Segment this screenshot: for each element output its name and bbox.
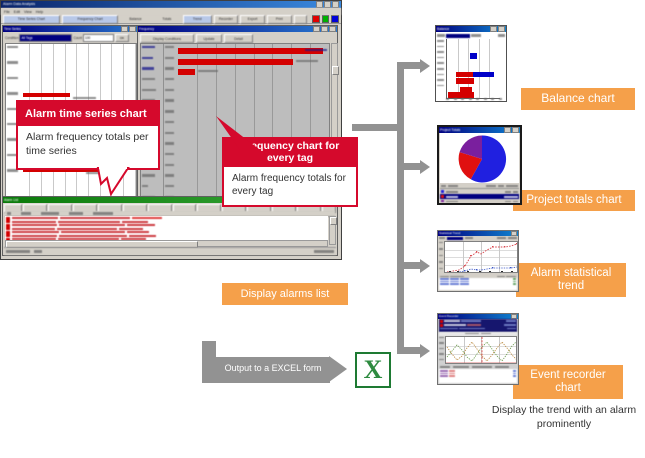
event-recorder-window[interactable]: Event Recorder: [437, 313, 519, 385]
frequency-toolbar[interactable]: Display Conditions Update Detail: [140, 34, 253, 43]
recorder-lines-svg: [446, 337, 517, 364]
toolbar-button-export[interactable]: Export: [240, 15, 265, 24]
column-header-tag[interactable]: [69, 212, 83, 214]
condition-dropdown[interactable]: All Tags: [19, 34, 72, 42]
pie-plot[interactable]: [440, 133, 519, 183]
connector-branch-balance: [397, 62, 421, 69]
condition-label: Condition: [5, 36, 18, 40]
arrow-trend: [420, 259, 430, 273]
trend-y-labels: [439, 242, 444, 269]
balance-bar-blue-1: [470, 53, 477, 59]
toolbar-button-frequency[interactable]: Frequency Chart: [62, 15, 119, 24]
trend-data-table[interactable]: [439, 275, 517, 290]
trend-plot[interactable]: [444, 241, 518, 273]
list-item[interactable]: [440, 370, 516, 372]
frequency-bar-label-3: [198, 70, 218, 72]
recorder-subtoolbar[interactable]: [439, 332, 517, 336]
balance-window-controls[interactable]: [490, 26, 505, 33]
excel-arrow-label: Output to a EXCEL form: [214, 363, 332, 373]
balance-plot[interactable]: [446, 39, 500, 99]
callout-frequency-body: Alarm frequency totals for every tag: [224, 167, 356, 203]
frequency-window-controls[interactable]: [313, 26, 336, 33]
toolbar-button-totals[interactable]: Totals: [153, 16, 181, 23]
balance-titlebar[interactable]: Balance: [436, 26, 506, 32]
callout-time-series-tail: [98, 166, 132, 196]
status-connection: [314, 250, 334, 252]
close-icon[interactable]: [332, 1, 339, 8]
toolbar-button-trend[interactable]: Trend: [183, 15, 211, 24]
pie-chart-svg: [457, 134, 507, 184]
balance-bar-blue-2: [473, 72, 494, 77]
table-row[interactable]: [439, 283, 517, 286]
frequency-bar-1: [178, 48, 323, 54]
frequency-button-conditions[interactable]: Display Conditions: [140, 34, 194, 43]
maximize-icon[interactable]: [321, 26, 328, 33]
bar-row2: [23, 93, 70, 97]
column-header-time[interactable]: [41, 212, 59, 214]
balance-toolbar[interactable]: [437, 33, 505, 38]
menu-item-edit[interactable]: Edit: [14, 10, 20, 14]
frequency-titlebar[interactable]: Frequency: [138, 26, 337, 32]
balance-chart-window[interactable]: Balance: [435, 25, 507, 102]
connector-branch-recorder: [397, 347, 421, 354]
maximize-icon[interactable]: [129, 26, 136, 33]
time-series-filter-row[interactable]: Condition All Tags Count 100 OK: [5, 34, 145, 41]
frequency-button-detail[interactable]: Detail: [224, 34, 253, 43]
column-header-message[interactable]: [93, 212, 113, 214]
minimize-icon[interactable]: [121, 26, 128, 33]
footer-note: Display the trend with an alarm prominen…: [488, 404, 640, 431]
count-label: Count: [73, 36, 82, 40]
project-totals-window[interactable]: Project Totals: [437, 125, 522, 205]
frequency-title: Frequency: [139, 26, 313, 32]
status-records-count: [34, 250, 42, 252]
frequency-bar-label-2: [296, 60, 318, 62]
tag-balance-chart: Balance chart: [521, 88, 635, 110]
status-records-label: [6, 250, 30, 252]
alarm-list-statusbar: [4, 247, 336, 255]
legend-swatch-green[interactable]: [322, 15, 330, 23]
close-icon[interactable]: [329, 26, 336, 33]
connector-branch-pie: [397, 163, 421, 170]
arrow-pie: [420, 160, 430, 174]
toolbar-button-print[interactable]: Print: [267, 15, 292, 24]
menu-item-file[interactable]: File: [4, 10, 10, 14]
balance-y-labels: [437, 40, 446, 86]
ok-button[interactable]: OK: [115, 34, 129, 42]
callout-time-series: Alarm time series chart Alarm frequency …: [16, 100, 160, 170]
frequency-bar-2: [178, 59, 293, 65]
column-header-date[interactable]: [21, 212, 31, 214]
minimize-icon[interactable]: [490, 26, 497, 33]
balance-bar-red-2: [456, 78, 474, 84]
balance-bar-red-1: [456, 72, 474, 77]
arrow-recorder: [420, 344, 430, 358]
toolbar-button-more[interactable]: [294, 15, 307, 24]
alarm-list-hscrollbar[interactable]: [5, 240, 328, 247]
legend-swatch-red[interactable]: [312, 15, 320, 23]
time-series-titlebar[interactable]: Time Series: [3, 26, 145, 32]
legend-row-3[interactable]: [440, 199, 519, 202]
time-series-title: Time Series: [4, 26, 121, 32]
main-window-title: Alarm Data Analysis: [3, 1, 316, 8]
list-item[interactable]: [440, 373, 516, 375]
excel-icon[interactable]: X: [355, 352, 391, 388]
list-item[interactable]: [440, 375, 516, 377]
minimize-icon[interactable]: [316, 1, 323, 8]
tag-alarm-statistical-trend: Alarm statistical trend: [516, 263, 626, 297]
recorder-plot[interactable]: [445, 336, 517, 364]
excel-icon-glyph: X: [364, 357, 383, 383]
connector-branch-trend: [397, 262, 421, 269]
callout-time-series-heading: Alarm time series chart: [18, 102, 158, 126]
balance-x-labels: [446, 98, 502, 100]
menu-item-help[interactable]: Help: [36, 10, 43, 14]
recorder-banner: [439, 319, 517, 332]
toolbar-button-balance[interactable]: Balance: [120, 16, 150, 23]
balance-bar-red-4: [448, 92, 474, 98]
main-titlebar[interactable]: Alarm Data Analysis: [1, 1, 341, 8]
close-icon[interactable]: [498, 26, 505, 33]
column-header-no[interactable]: [7, 212, 11, 214]
connector-trunk-vertical: [397, 62, 404, 354]
minimize-icon[interactable]: [313, 26, 320, 33]
menu-item-view[interactable]: View: [24, 10, 32, 14]
toolbar-button-recorder[interactable]: Recorder: [214, 15, 239, 24]
callout-frequency-tail: [216, 116, 264, 156]
legend-swatch-blue[interactable]: [331, 15, 339, 23]
main-toolbar[interactable]: Time Series Chart Frequency Chart Balanc…: [1, 15, 341, 24]
count-input[interactable]: 100: [83, 34, 114, 42]
recorder-y-labels: [439, 337, 445, 360]
statistical-trend-window[interactable]: Statistical Trend: [437, 230, 519, 292]
frequency-value-column: [163, 44, 179, 214]
callout-time-series-body: Alarm frequency totals per time series: [18, 126, 158, 164]
maximize-icon[interactable]: [324, 1, 331, 8]
balance-window-title: Balance: [437, 26, 490, 32]
arrow-balance: [420, 59, 430, 73]
frequency-button-update[interactable]: Update: [196, 34, 222, 43]
tag-project-totals-chart: Project totals chart: [513, 190, 635, 211]
trend-lines-svg: [445, 242, 518, 273]
main-window-controls[interactable]: [316, 1, 339, 8]
pie-legend-table[interactable]: [440, 184, 519, 202]
excel-arrow-vertical: [202, 341, 216, 357]
alarm-list-vscrollbar[interactable]: [329, 216, 336, 245]
toolbar-button-time-series[interactable]: Time Series Chart: [3, 15, 60, 24]
frequency-bar-3: [178, 69, 195, 75]
tag-event-recorder-chart: Event recorder chart: [513, 365, 623, 399]
trend-toolbar[interactable]: [439, 236, 517, 240]
tag-display-alarms-list: Display alarms list: [222, 283, 348, 305]
recorder-legend-block[interactable]: [439, 369, 517, 383]
